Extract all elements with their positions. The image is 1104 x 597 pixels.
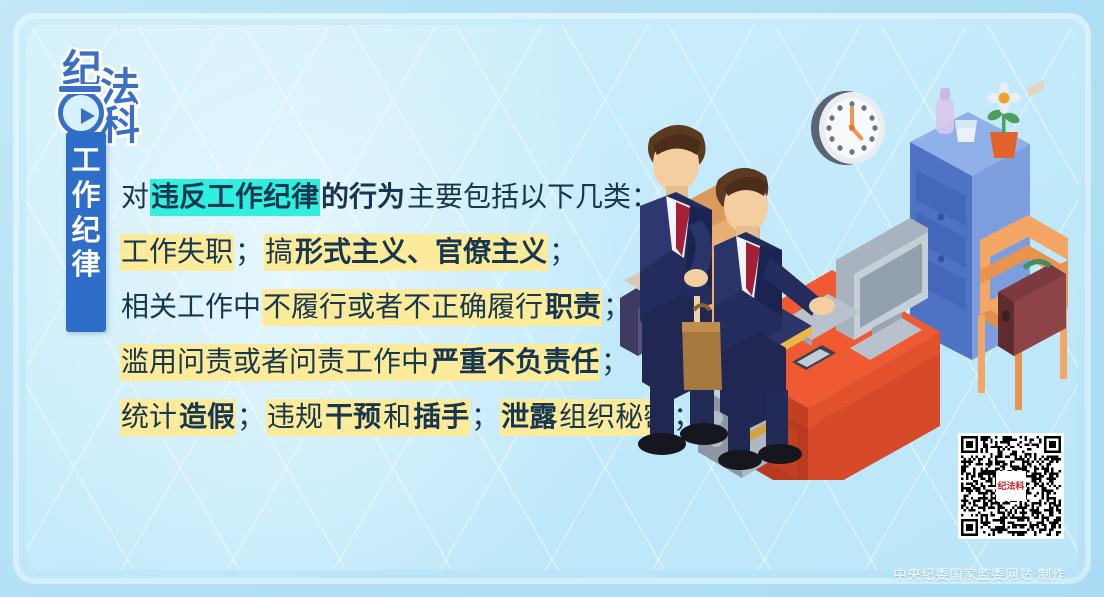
text-segment: 插手	[412, 399, 470, 436]
text-segment: 干预	[324, 399, 382, 436]
banner-char-2: 纪	[71, 214, 100, 249]
qr-code[interactable]: 纪法科	[958, 433, 1064, 539]
text-segment: 的行为	[320, 179, 406, 216]
text-segment: 违反工作纪律	[150, 179, 320, 216]
banner-char-0: 工	[71, 144, 100, 179]
text-segment: 对	[120, 179, 150, 216]
banner-char-3: 律	[71, 248, 100, 283]
text-segment: 不履行或者不正确履行	[262, 289, 544, 326]
text-segment: 统计	[120, 399, 178, 436]
text-segment: 搞	[264, 234, 294, 271]
banner-char-1: 作	[71, 179, 100, 214]
text-segment: 职责	[544, 289, 602, 326]
text-segment: 滥用问责或者问责工作中	[120, 344, 430, 381]
text-segment: ；	[548, 234, 578, 271]
logo-char-ji: 纪	[62, 50, 102, 90]
isometric-office-illustration	[610, 60, 1080, 480]
logo-char-fa: 法	[100, 68, 140, 108]
text-segment: 泄露	[500, 399, 558, 436]
logo-underline	[59, 86, 101, 92]
text-segment: 形式主义、官僚主义	[294, 234, 548, 271]
text-segment: 工作失职	[120, 234, 234, 271]
text-segment: ；	[236, 399, 266, 436]
play-circle-icon	[58, 90, 104, 136]
drinking-glass-icon	[955, 120, 977, 142]
logo-char-ke: 科	[100, 106, 140, 146]
wall-clock-icon	[811, 91, 885, 165]
vertical-banner: 工 作 纪 律	[66, 132, 106, 332]
text-segment: 造假	[178, 399, 236, 436]
play-triangle-icon	[81, 108, 95, 124]
text-segment: 相关工作中	[120, 289, 262, 326]
text-segment: 违规	[266, 399, 324, 436]
text-segment: 严重不负责任	[430, 344, 600, 381]
qr-center-logo: 纪法科	[996, 471, 1026, 501]
text-segment: 和	[382, 399, 412, 436]
text-segment: ；	[234, 234, 264, 271]
poster-root: 纪 法 科 工 作 纪 律 对违反工作纪律的行为主要包括以下几类：工作失职；搞形…	[0, 0, 1104, 597]
text-segment: ；	[470, 399, 500, 436]
footer-credit: 中央纪委国家监委网站 制作	[893, 564, 1066, 583]
water-bottle-icon	[936, 88, 954, 134]
